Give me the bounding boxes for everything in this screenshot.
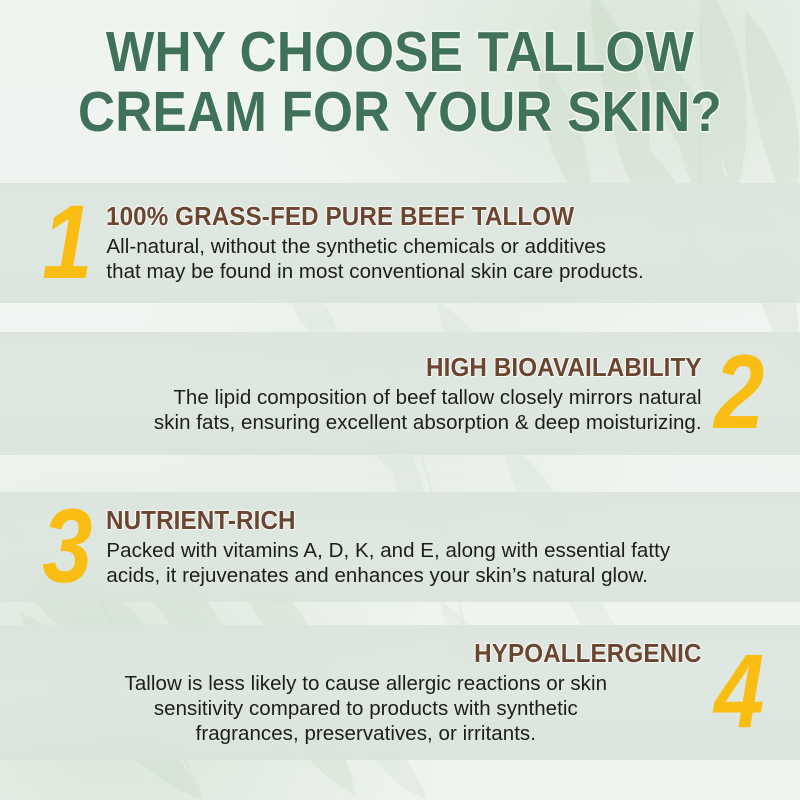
benefit-copy-2: HIGH BIOAVAILABILITY The lipid compositi… xyxy=(0,353,702,435)
benefit-number-2: 2 xyxy=(712,347,766,439)
benefit-body-2: The lipid composition of beef tallow clo… xyxy=(30,385,702,435)
benefit-row-1: 1 100% GRASS-FED PURE BEEF TALLOW All-na… xyxy=(0,183,800,303)
benefit-copy-4: HYPOALLERGENIC Tallow is less likely to … xyxy=(0,639,702,746)
benefit-body-1: All-natural, without the synthetic chemi… xyxy=(106,234,774,284)
benefit-row-2: HIGH BIOAVAILABILITY The lipid compositi… xyxy=(0,332,800,455)
benefit-heading-2: HIGH BIOAVAILABILITY xyxy=(64,353,702,383)
benefit-body-3-line-2: acids, it rejuvenates and enhances your … xyxy=(106,563,778,588)
benefit-body-1-line-2: that may be found in most conventional s… xyxy=(106,259,774,284)
benefit-copy-3: NUTRIENT-RICH Packed with vitamins A, D,… xyxy=(106,506,800,588)
benefit-number-3: 3 xyxy=(40,501,94,593)
benefit-body-4: Tallow is less likely to cause allergic … xyxy=(30,671,702,746)
benefit-heading-3: NUTRIENT-RICH xyxy=(106,506,744,536)
page-title-line-1: WHY CHOOSE TALLOW xyxy=(62,22,739,82)
benefit-body-2-line-2: skin fats, ensuring excellent absorption… xyxy=(30,410,702,435)
page-title: WHY CHOOSE TALLOW CREAM FOR YOUR SKIN? xyxy=(0,22,800,142)
benefit-heading-1: 100% GRASS-FED PURE BEEF TALLOW xyxy=(106,202,740,232)
benefit-body-4-line-3: fragrances, preservatives, or irritants. xyxy=(30,721,702,746)
benefit-copy-1: 100% GRASS-FED PURE BEEF TALLOW All-natu… xyxy=(106,202,800,284)
benefit-body-4-line-1: Tallow is less likely to cause allergic … xyxy=(30,671,702,696)
benefit-row-3: 3 NUTRIENT-RICH Packed with vitamins A, … xyxy=(0,492,800,602)
benefit-heading-4: HYPOALLERGENIC xyxy=(64,639,702,669)
benefit-row-4: HYPOALLERGENIC Tallow is less likely to … xyxy=(0,625,800,760)
benefit-body-1-line-1: All-natural, without the synthetic chemi… xyxy=(106,234,774,259)
benefit-number-4: 4 xyxy=(712,646,766,738)
benefit-number-1: 1 xyxy=(40,197,94,289)
benefit-body-3: Packed with vitamins A, D, K, and E, alo… xyxy=(106,538,778,588)
benefit-body-2-line-1: The lipid composition of beef tallow clo… xyxy=(30,385,702,410)
infographic-poster: WHY CHOOSE TALLOW CREAM FOR YOUR SKIN? 1… xyxy=(0,0,800,800)
benefit-body-4-line-2: sensitivity compared to products with sy… xyxy=(30,696,702,721)
benefit-body-3-line-1: Packed with vitamins A, D, K, and E, alo… xyxy=(106,538,778,563)
page-title-line-2: CREAM FOR YOUR SKIN? xyxy=(62,82,739,142)
